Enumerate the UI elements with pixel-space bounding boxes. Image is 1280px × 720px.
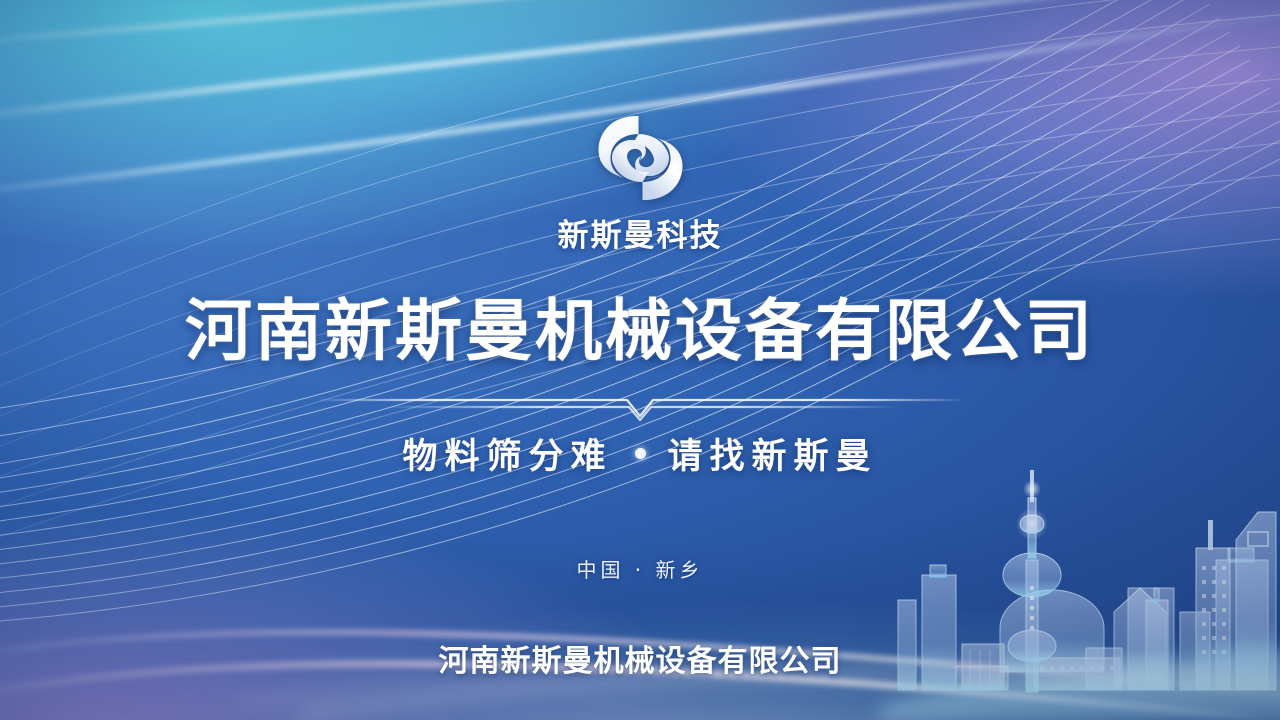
page-title: 河南新斯曼机械设备有限公司 bbox=[0, 296, 1280, 366]
bullet-separator-icon bbox=[635, 448, 646, 459]
tagline: 物料筛分难 请找新斯曼 bbox=[0, 428, 1280, 479]
location-label: 中国 · 新乡 bbox=[0, 554, 1280, 583]
swirl-s-monogram-icon bbox=[586, 112, 694, 204]
company-logo: 新斯曼科技 bbox=[558, 112, 723, 255]
slide-canvas: 新斯曼科技 河南新斯曼机械设备有限公司 bbox=[0, 0, 1280, 720]
slide-content: 新斯曼科技 河南新斯曼机械设备有限公司 bbox=[0, 0, 1280, 720]
logo-wordmark: 新斯曼科技 bbox=[558, 210, 723, 255]
chevron-divider-icon bbox=[315, 392, 965, 426]
tagline-left: 物料筛分难 bbox=[402, 428, 612, 479]
footer-caption: 河南新斯曼机械设备有限公司 bbox=[0, 636, 1280, 680]
tagline-right: 请找新斯曼 bbox=[668, 428, 878, 479]
